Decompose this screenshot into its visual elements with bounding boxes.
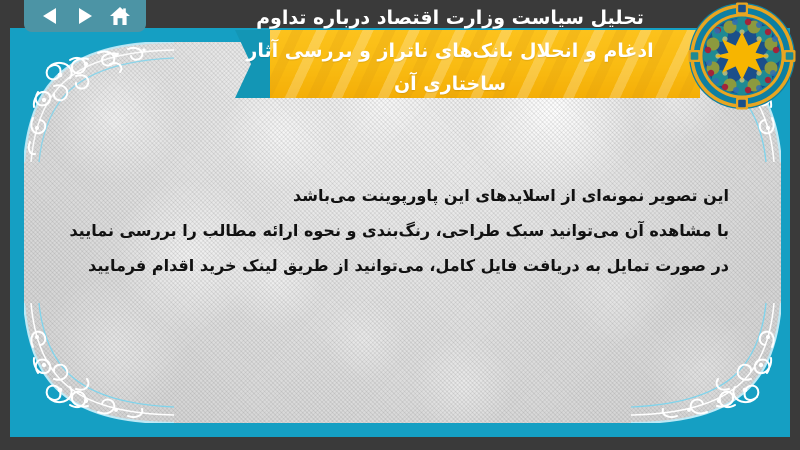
navigation-bar [24,0,146,32]
title-banner [270,30,700,98]
body-line: با مشاهده آن می‌توانید سبک طراحی، رنگ‌بن… [89,213,729,248]
next-slide-button[interactable] [72,4,98,28]
body-line: در صورت تمایل به دریافت فایل کامل، می‌تو… [89,248,729,283]
slide-viewer: این تصویر نمونه‌ای از اسلایدهای این پاور… [0,0,800,450]
triangle-right-icon [77,7,93,25]
arabesque-corner-icon [24,42,174,162]
persian-medallion-icon [688,2,796,110]
home-icon [109,6,131,26]
home-button[interactable] [107,4,133,28]
body-line: این تصویر نمونه‌ای از اسلایدهای این پاور… [89,178,729,213]
previous-slide-button[interactable] [37,4,63,28]
arabesque-corner-icon [631,303,781,423]
slide-content-panel: این تصویر نمونه‌ای از اسلایدهای این پاور… [24,42,781,423]
triangle-left-icon [42,7,58,25]
arabesque-corner-icon [24,303,174,423]
slide-body-text: این تصویر نمونه‌ای از اسلایدهای این پاور… [89,178,729,283]
